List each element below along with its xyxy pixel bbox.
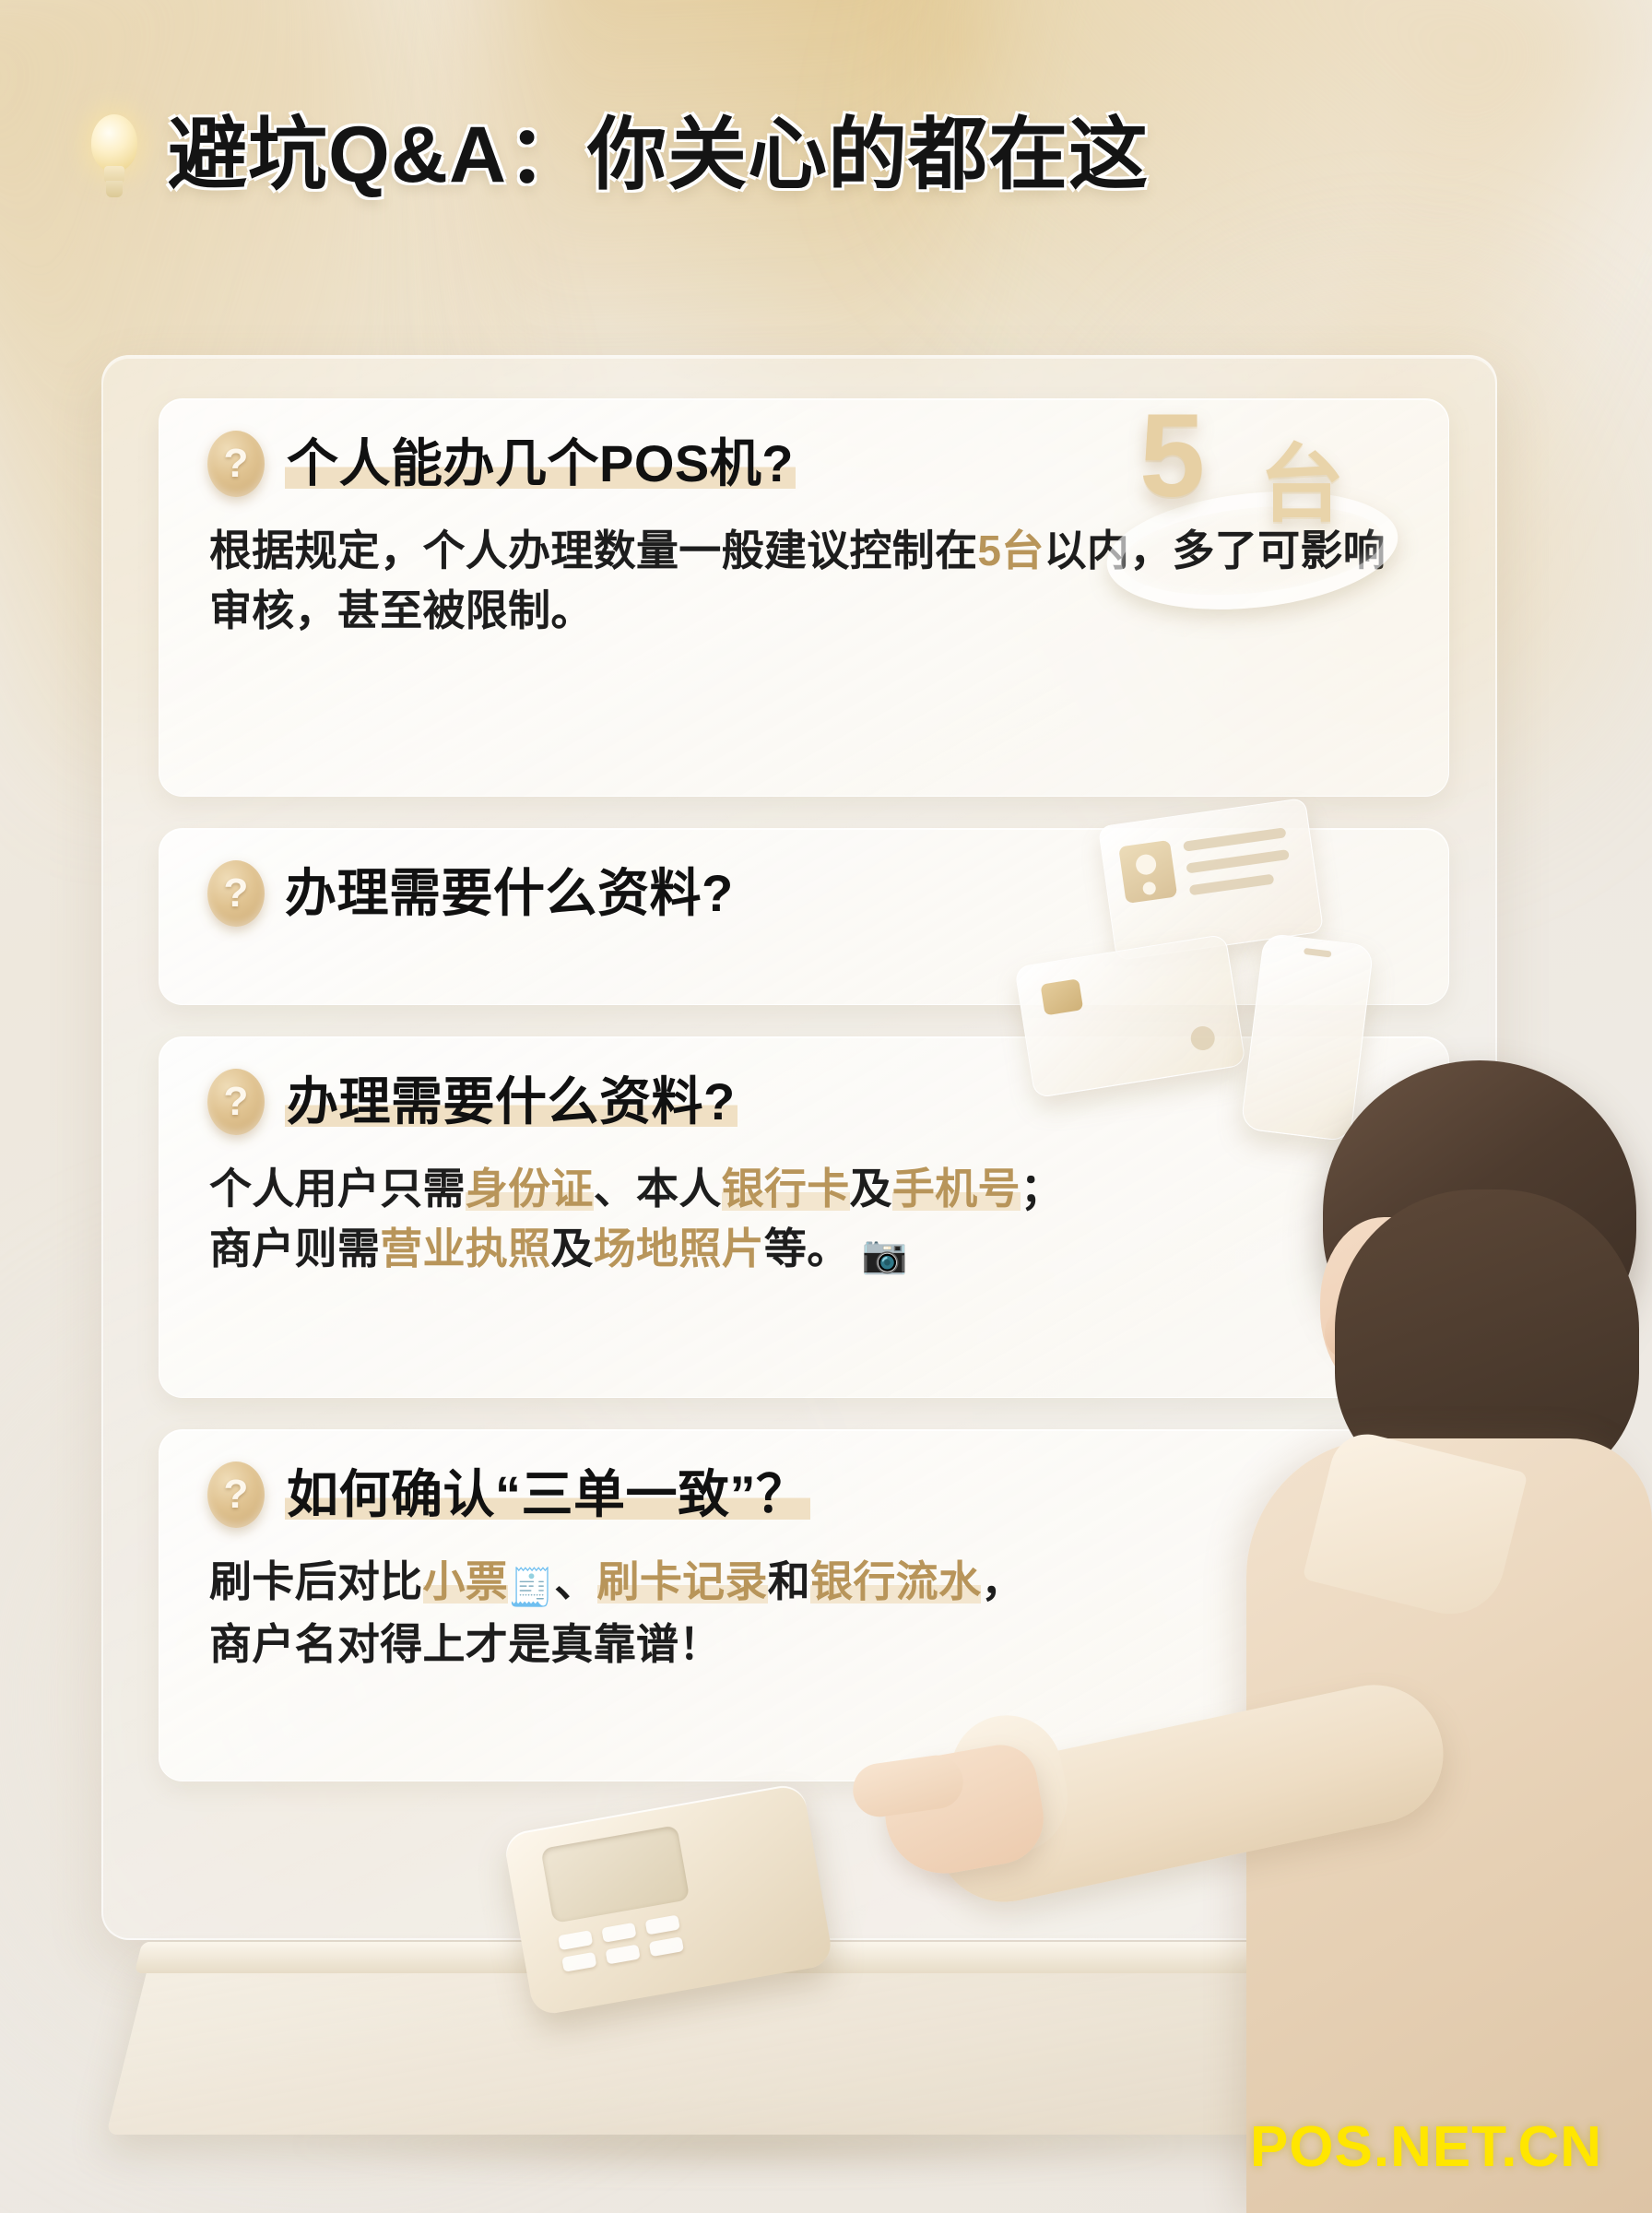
qa-card-three-match[interactable]: ? 如何确认“三单一致”？ 刷卡后对比小票🧾、刷卡记录和银行流水， 商户名对得上… [159, 1429, 1449, 1781]
answer-highlight-receipt: 小票 [423, 1557, 509, 1605]
answer-text-part: 等。 [764, 1225, 850, 1272]
question-mark-glyph: ? [224, 1079, 249, 1125]
question-mark-icon: ? [207, 860, 265, 927]
question-mark-glyph: ? [224, 870, 249, 917]
answer-text-part: 及 [550, 1225, 593, 1272]
question-mark-icon: ? [207, 1069, 265, 1135]
qa-question-title: 个人能办几个POS机? [285, 436, 796, 491]
camera-icon: 📷 [862, 1235, 908, 1275]
answer-highlight-idcard: 身份证 [466, 1165, 594, 1213]
answer-highlight-5tai: 5台 [977, 527, 1044, 574]
qa-card-header: ? 个人能办几个POS机? [159, 399, 1448, 497]
answer-highlight-bank-flow: 银行流水 [810, 1557, 981, 1605]
answer-text-part: 及 [850, 1165, 892, 1213]
answer-text-part: 和 [768, 1557, 810, 1605]
qa-card-header: ? 办理需要什么资料? [159, 1037, 1448, 1135]
answer-highlight-license: 营业执照 [380, 1225, 550, 1272]
qa-answer-body: 个人用户只需身份证、本人银行卡及手机号； 商户则需营业执照及场地照片等。 📷 [159, 1135, 1448, 1282]
answer-highlight-swipe-record: 刷卡记录 [597, 1557, 768, 1605]
question-mark-glyph: ? [224, 441, 249, 487]
answer-text-part: 刷卡后对比 [209, 1557, 423, 1605]
answer-text-part: 、本人 [594, 1165, 722, 1213]
answer-text-part: 商户则需 [209, 1225, 380, 1272]
answer-text-part: 商户名对得上才是真靠谱！ [209, 1620, 722, 1668]
site-watermark: POS.NET.CN [1250, 2114, 1602, 2180]
qa-answer-body: 刷卡后对比小票🧾、刷卡记录和银行流水， 商户名对得上才是真靠谱！ [159, 1528, 1448, 1675]
page-header: 避坑Q&A：你关心的都在这 [88, 111, 1149, 199]
answer-highlight-phone: 手机号 [892, 1165, 1021, 1213]
question-mark-icon: ? [207, 431, 265, 497]
qa-card-header: ? 办理需要什么资料? [159, 829, 1448, 927]
qa-question-title: 如何确认“三单一致”？ [285, 1467, 810, 1521]
answer-text-part: 个人用户只需 [209, 1165, 466, 1213]
answer-text-part: ； [1021, 1165, 1063, 1213]
page-title: 避坑Q&A：你关心的都在这 [168, 115, 1149, 195]
question-mark-glyph: ? [224, 1472, 249, 1518]
qa-card-materials-b[interactable]: ? 办理需要什么资料? 个人用户只需身份证、本人银行卡及手机号； 商户则需营业执… [159, 1036, 1449, 1398]
receipt-icon: 🧾 [508, 1568, 554, 1608]
qa-question-title: 办理需要什么资料? [285, 1074, 737, 1129]
qa-card-materials-a[interactable]: ? 办理需要什么资料? [159, 828, 1449, 1005]
qa-answer-body: 根据规定，个人办理数量一般建议控制在5台以内，多了可影响审核，甚至被限制。 [159, 497, 1448, 642]
qa-question-title: 办理需要什么资料? [285, 866, 734, 920]
answer-highlight-bankcard: 银行卡 [722, 1165, 850, 1213]
answer-text-part: 、 [554, 1557, 596, 1605]
answer-text-part: ， [981, 1557, 1023, 1605]
lightbulb-icon [88, 114, 140, 199]
qa-card-list: ? 个人能办几个POS机? 根据规定，个人办理数量一般建议控制在5台以内，多了可… [159, 398, 1449, 1781]
answer-highlight-sitephoto: 场地照片 [594, 1225, 764, 1272]
question-mark-icon: ? [207, 1462, 265, 1528]
qa-card-header: ? 如何确认“三单一致”？ [159, 1430, 1448, 1528]
qa-card-pos-count[interactable]: ? 个人能办几个POS机? 根据规定，个人办理数量一般建议控制在5台以内，多了可… [159, 398, 1449, 797]
answer-text-part: 根据规定，个人办理数量一般建议控制在 [209, 527, 977, 574]
